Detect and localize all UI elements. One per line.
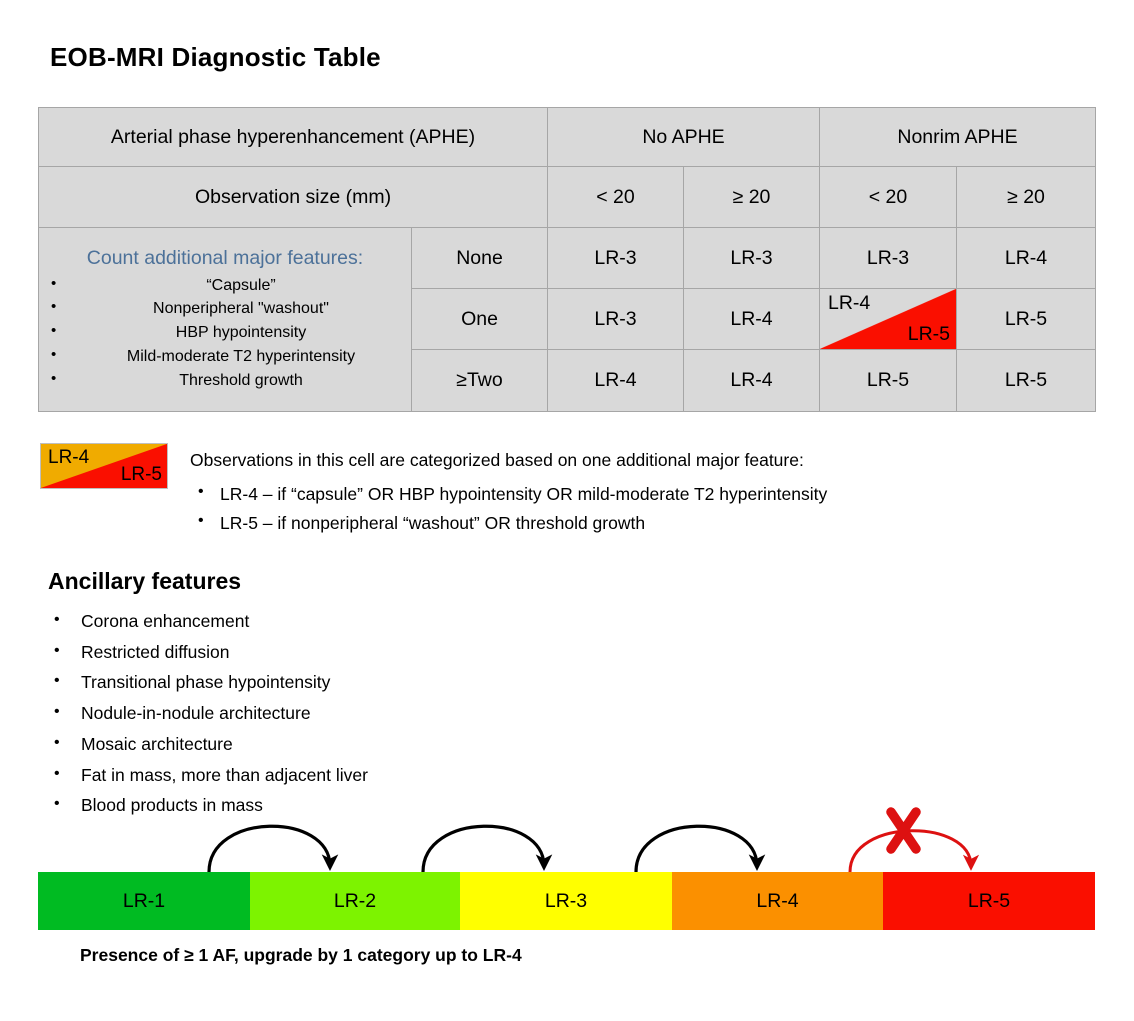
cell-one-nonrim-ge20: LR-5 xyxy=(957,289,1096,350)
size-header-4: ≥ 20 xyxy=(957,167,1096,228)
split-label-lower: LR-5 xyxy=(908,323,950,346)
list-item: Nodule-in-nodule architecture xyxy=(48,698,368,729)
count-major-features-cell: Count additional major features: “Capsul… xyxy=(39,228,412,412)
legend-swatch-label-upper: LR-4 xyxy=(48,447,89,469)
x-mark-icon xyxy=(891,812,916,849)
size-row-label: Observation size (mm) xyxy=(39,167,548,228)
legend-swatch-label-lower: LR-5 xyxy=(121,464,162,486)
count-features-list: “Capsule” Nonperipheral "washout" HBP hy… xyxy=(39,274,411,392)
arrow-lr1-to-lr2 xyxy=(209,826,330,872)
cell-none-noaphe-ge20: LR-3 xyxy=(684,228,820,289)
cell-one-noaphe-lt20: LR-3 xyxy=(548,289,684,350)
spectrum-segment-lr2: LR-2 xyxy=(250,872,460,930)
page-title: EOB-MRI Diagnostic Table xyxy=(50,42,381,73)
legend-swatch: LR-4 LR-5 xyxy=(40,443,168,489)
size-header-1: < 20 xyxy=(548,167,684,228)
arrow-lr3-to-lr4 xyxy=(636,826,757,872)
arrow-lr2-to-lr3 xyxy=(423,826,544,872)
spectrum-segment-lr1: LR-1 xyxy=(38,872,250,930)
cell-none-nonrim-lt20: LR-3 xyxy=(820,228,957,289)
footer-note: Presence of ≥ 1 AF, upgrade by 1 categor… xyxy=(80,945,522,966)
list-item: Restricted diffusion xyxy=(48,637,368,668)
row-label-one: One xyxy=(412,289,548,350)
lr-category-spectrum-bar: LR-1 LR-2 LR-3 LR-4 LR-5 xyxy=(38,872,1095,930)
table-row-none: Count additional major features: “Capsul… xyxy=(39,228,1096,289)
list-item: Fat in mass, more than adjacent liver xyxy=(48,760,368,791)
diagnostic-table: Arterial phase hyperenhancement (APHE) N… xyxy=(38,107,1096,412)
cell-two-noaphe-ge20: LR-4 xyxy=(684,350,820,412)
list-item: Nonperipheral "washout" xyxy=(39,297,411,321)
spectrum-label: LR-1 xyxy=(123,890,165,913)
row-label-none: None xyxy=(412,228,548,289)
cell-none-noaphe-lt20: LR-3 xyxy=(548,228,684,289)
count-features-title: Count additional major features: xyxy=(39,247,411,270)
list-item: HBP hypointensity xyxy=(39,321,411,345)
cell-two-noaphe-lt20: LR-4 xyxy=(548,350,684,412)
table-row-aphe: Arterial phase hyperenhancement (APHE) N… xyxy=(39,108,1096,167)
spectrum-label: LR-2 xyxy=(334,890,376,913)
cell-one-noaphe-ge20: LR-4 xyxy=(684,289,820,350)
list-item: LR-4 – if “capsule” OR HBP hypointensity… xyxy=(190,480,1050,509)
legend-heading: Observations in this cell are categorize… xyxy=(190,450,1050,471)
list-item: Blood products in mass xyxy=(48,790,368,821)
size-header-3: < 20 xyxy=(820,167,957,228)
spectrum-segment-lr5: LR-5 xyxy=(883,872,1095,930)
split-label-upper: LR-4 xyxy=(828,292,870,315)
cell-two-nonrim-ge20: LR-5 xyxy=(957,350,1096,412)
list-item: Mild-moderate T2 hyperintensity xyxy=(39,345,411,369)
aphe-group-no: No APHE xyxy=(548,108,820,167)
legend-list: LR-4 – if “capsule” OR HBP hypointensity… xyxy=(190,480,1050,538)
cell-none-nonrim-ge20: LR-4 xyxy=(957,228,1096,289)
spectrum-label: LR-4 xyxy=(756,890,798,913)
list-item: “Capsule” xyxy=(39,274,411,298)
aphe-group-nonrim: Nonrim APHE xyxy=(820,108,1096,167)
row-label-two: ≥Two xyxy=(412,350,548,412)
list-item: Mosaic architecture xyxy=(48,729,368,760)
arrow-lr4-to-lr5-blocked xyxy=(850,831,971,872)
aphe-row-label: Arterial phase hyperenhancement (APHE) xyxy=(39,108,548,167)
cell-two-nonrim-lt20: LR-5 xyxy=(820,350,957,412)
list-item: Corona enhancement xyxy=(48,606,368,637)
ancillary-features-title: Ancillary features xyxy=(48,568,241,595)
cell-one-nonrim-lt20-split: LR-4 LR-5 xyxy=(820,289,957,350)
ancillary-features-list: Corona enhancement Restricted diffusion … xyxy=(48,606,368,821)
list-item: Threshold growth xyxy=(39,369,411,393)
spectrum-segment-lr3: LR-3 xyxy=(460,872,672,930)
spectrum-segment-lr4: LR-4 xyxy=(672,872,883,930)
list-item: Transitional phase hypointensity xyxy=(48,667,368,698)
legend-text-block: Observations in this cell are categorize… xyxy=(190,450,1050,538)
list-item: LR-5 – if nonperipheral “washout” OR thr… xyxy=(190,509,1050,538)
spectrum-label: LR-3 xyxy=(545,890,587,913)
size-header-2: ≥ 20 xyxy=(684,167,820,228)
table-row-size: Observation size (mm) < 20 ≥ 20 < 20 ≥ 2… xyxy=(39,167,1096,228)
spectrum-label: LR-5 xyxy=(968,890,1010,913)
